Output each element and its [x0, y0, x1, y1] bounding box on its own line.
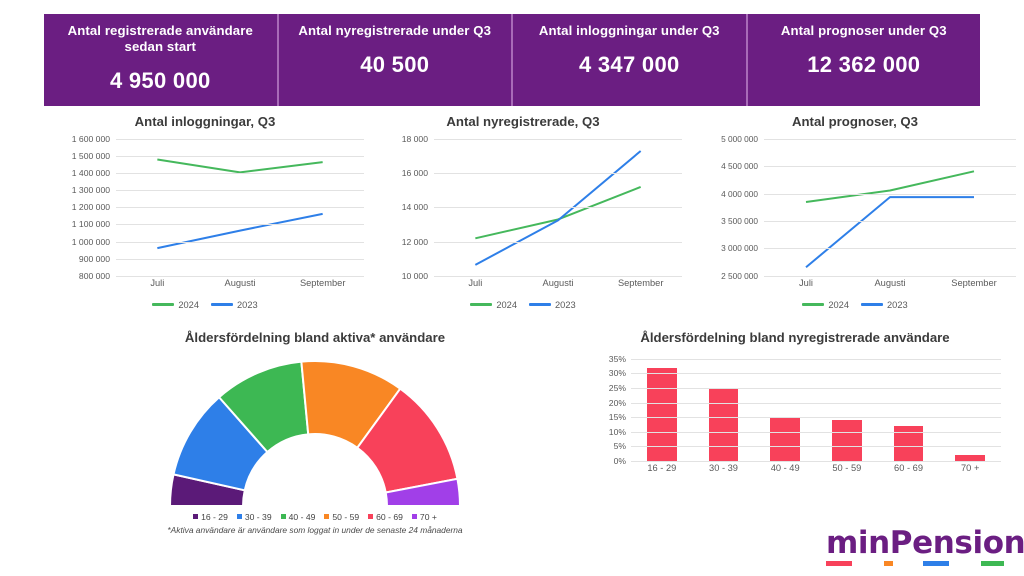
chart-new-users-age-distribution: Åldersfördelning bland nyregistrerade an…: [575, 330, 1015, 530]
chart-title: Åldersfördelning bland nyregistrerade an…: [575, 330, 1015, 346]
gridline: [764, 276, 1016, 277]
x-tick-label: September: [932, 278, 1016, 294]
x-tick-label: 60 - 69: [878, 463, 940, 479]
gridline: [116, 173, 364, 174]
gridline: [764, 139, 1016, 140]
gridline: [116, 207, 364, 208]
kpi-title: Antal inloggningar under Q3: [539, 23, 720, 39]
chart-logins: Antal inloggningar, Q3 800 000900 0001 0…: [40, 114, 370, 324]
kpi-title: Antal prognoser under Q3: [781, 23, 947, 39]
y-tick-label: 1 300 000: [72, 185, 110, 195]
gridline: [116, 139, 364, 140]
legend-swatch-2024: [802, 303, 824, 306]
y-tick-label: 4 500 000: [721, 161, 758, 171]
legend-swatch: [412, 514, 417, 519]
y-tick-label: 1 100 000: [72, 219, 110, 229]
legend-swatch: [281, 514, 286, 519]
donut-legend-item: 30 - 39: [237, 512, 272, 522]
chart-active-users-age-distribution: Åldersfördelning bland aktiva* användare…: [110, 330, 520, 545]
y-tick-label: 10 000: [402, 271, 428, 281]
gridline: [631, 359, 1001, 360]
y-tick-label: 1 600 000: [72, 134, 110, 144]
gridline: [631, 417, 1001, 418]
chart-legend: 2024 2023: [688, 300, 1022, 310]
donut-legend-item: 16 - 29: [193, 512, 228, 522]
legend-item-2023: 2023: [861, 300, 908, 310]
x-axis-labels: 16 - 2930 - 3940 - 4950 - 5960 - 6970 +: [631, 463, 1001, 479]
kpi-card-logins: Antal inloggningar under Q3 4 347 000: [511, 14, 746, 106]
logo-dash: [923, 561, 949, 566]
x-tick-label: Juli: [764, 278, 848, 294]
chart-title: Antal inloggningar, Q3: [40, 114, 370, 130]
donut-legend-item: 60 - 69: [368, 512, 403, 522]
x-tick-label: Augusti: [199, 278, 282, 294]
y-tick-label: 15%: [609, 412, 626, 422]
kpi-value: 4 347 000: [579, 52, 680, 78]
x-tick-label: September: [599, 278, 682, 294]
legend-swatch: [237, 514, 242, 519]
chart-title: Antal nyregistrerade, Q3: [358, 114, 688, 130]
line-series-2024: [157, 159, 322, 172]
x-tick-label: September: [281, 278, 364, 294]
y-tick-label: 16 000: [402, 168, 428, 178]
y-tick-label: 14 000: [402, 202, 428, 212]
legend-item-2024: 2024: [470, 300, 517, 310]
x-tick-label: Augusti: [848, 278, 932, 294]
half-donut-svg: [170, 358, 460, 508]
bar-30-39: [709, 388, 739, 461]
legend-swatch-2024: [152, 303, 174, 306]
logo-dash: [826, 561, 852, 566]
chart-forecasts: Antal prognoser, Q3 2 500 0003 000 0003 …: [688, 114, 1022, 324]
donut-legend-item: 50 - 59: [324, 512, 359, 522]
legend-label: 30 - 39: [245, 512, 272, 522]
donut-legend-item: 70 +: [412, 512, 437, 522]
legend-label: 2023: [237, 300, 258, 310]
x-tick-label: 16 - 29: [631, 463, 693, 479]
gridline: [631, 432, 1001, 433]
y-tick-label: 10%: [609, 427, 626, 437]
gridline: [116, 190, 364, 191]
kpi-title: Antal registrerade användare sedan start: [50, 23, 271, 55]
legend-swatch: [368, 514, 373, 519]
legend-swatch-2023: [529, 303, 551, 306]
legend-swatch-2023: [211, 303, 233, 306]
legend-swatch-2024: [470, 303, 492, 306]
legend-label: 50 - 59: [332, 512, 359, 522]
gridline: [764, 194, 1016, 195]
y-axis: 0%5%10%15%20%25%30%35%: [585, 359, 629, 461]
x-tick-label: 50 - 59: [816, 463, 878, 479]
y-tick-label: 900 000: [79, 254, 110, 264]
plot-area: [116, 139, 364, 276]
line-series-2023: [806, 197, 974, 267]
chart-title: Antal prognoser, Q3: [688, 114, 1022, 130]
plot-area: [434, 139, 682, 276]
kpi-band: Antal registrerade användare sedan start…: [44, 14, 980, 106]
y-tick-label: 12 000: [402, 237, 428, 247]
logo-text: minPension: [826, 528, 1012, 559]
legend-item-2024: 2024: [152, 300, 199, 310]
gridline: [116, 259, 364, 260]
kpi-title: Antal nyregistrerade under Q3: [298, 23, 491, 39]
chart-new-registrations: Antal nyregistrerade, Q3 10 00012 00014 …: [358, 114, 688, 324]
gridline: [631, 403, 1001, 404]
y-tick-label: 4 000 000: [721, 189, 758, 199]
gridline: [764, 221, 1016, 222]
legend-label: 2023: [555, 300, 576, 310]
kpi-card-forecasts: Antal prognoser under Q3 12 362 000: [746, 14, 981, 106]
gridline: [116, 156, 364, 157]
x-axis-labels: JuliAugustiSeptember: [764, 278, 1016, 294]
x-axis-labels: JuliAugustiSeptember: [434, 278, 682, 294]
y-axis: 2 500 0003 000 0003 500 0004 000 0004 50…: [688, 139, 762, 276]
legend-item-2024: 2024: [802, 300, 849, 310]
gridline: [631, 461, 1001, 462]
line-series-2023: [157, 214, 322, 248]
bar-40-49: [770, 417, 800, 461]
x-tick-label: Augusti: [517, 278, 600, 294]
donut-legend-item: 40 - 49: [281, 512, 316, 522]
y-tick-label: 18 000: [402, 134, 428, 144]
y-tick-label: 30%: [609, 368, 626, 378]
gridline: [434, 207, 682, 208]
plot-area: [764, 139, 1016, 276]
y-tick-label: 1 000 000: [72, 237, 110, 247]
y-tick-label: 1 200 000: [72, 202, 110, 212]
logo-dash: [981, 561, 1004, 566]
legend-swatch-2023: [861, 303, 883, 306]
legend-label: 2024: [828, 300, 849, 310]
y-tick-label: 3 500 000: [721, 216, 758, 226]
x-axis-labels: JuliAugustiSeptember: [116, 278, 364, 294]
y-tick-label: 2 500 000: [721, 271, 758, 281]
plot-area: [631, 359, 1001, 461]
y-tick-label: 20%: [609, 398, 626, 408]
legend-item-2023: 2023: [211, 300, 258, 310]
y-axis: 10 00012 00014 00016 00018 000: [358, 139, 432, 276]
kpi-card-new-registrations: Antal nyregistrerade under Q3 40 500: [277, 14, 512, 106]
gridline: [631, 388, 1001, 389]
gridline: [116, 276, 364, 277]
minpension-logo: minPension: [826, 528, 1012, 574]
chart-title: Åldersfördelning bland aktiva* användare: [110, 330, 520, 346]
y-tick-label: 0%: [614, 456, 626, 466]
y-tick-label: 5%: [614, 441, 626, 451]
legend-label: 2023: [887, 300, 908, 310]
legend-label: 60 - 69: [376, 512, 403, 522]
legend-swatch: [324, 514, 329, 519]
kpi-value: 4 950 000: [110, 68, 211, 94]
kpi-value: 12 362 000: [807, 52, 920, 78]
gridline: [764, 248, 1016, 249]
x-tick-label: 70 +: [939, 463, 1001, 479]
gridline: [116, 224, 364, 225]
gridline: [764, 166, 1016, 167]
x-tick-label: Juli: [116, 278, 199, 294]
line-series-svg: [764, 139, 1016, 276]
kpi-card-registered-users: Antal registrerade användare sedan start…: [44, 14, 277, 106]
y-tick-label: 3 000 000: [721, 243, 758, 253]
legend-label: 16 - 29: [201, 512, 228, 522]
legend-label: 70 +: [420, 512, 437, 522]
gridline: [434, 139, 682, 140]
x-tick-label: Juli: [434, 278, 517, 294]
donut-legend: 16 - 2930 - 3940 - 4950 - 5960 - 6970 +: [110, 512, 520, 522]
legend-swatch: [193, 514, 198, 519]
chart-legend: 2024 2023: [358, 300, 688, 310]
gridline: [631, 446, 1001, 447]
legend-item-2023: 2023: [529, 300, 576, 310]
half-donut-wrap: [170, 358, 460, 508]
logo-dashes: [826, 561, 1004, 568]
kpi-value: 40 500: [360, 52, 429, 78]
legend-label: 40 - 49: [289, 512, 316, 522]
gridline: [631, 373, 1001, 374]
line-series-2024: [475, 187, 640, 238]
x-tick-label: 30 - 39: [693, 463, 755, 479]
gridline: [116, 242, 364, 243]
gridline: [434, 242, 682, 243]
y-tick-label: 5 000 000: [721, 134, 758, 144]
logo-dash: [884, 561, 893, 566]
legend-label: 2024: [496, 300, 517, 310]
y-tick-label: 1 500 000: [72, 151, 110, 161]
chart-legend: 2024 2023: [40, 300, 370, 310]
y-tick-label: 1 400 000: [72, 168, 110, 178]
legend-label: 2024: [178, 300, 199, 310]
bar-50-59: [832, 420, 862, 461]
gridline: [434, 173, 682, 174]
chart-footnote: *Aktiva användare är användare som logga…: [110, 525, 520, 536]
y-tick-label: 25%: [609, 383, 626, 393]
gridline: [434, 276, 682, 277]
y-tick-label: 800 000: [79, 271, 110, 281]
x-tick-label: 40 - 49: [754, 463, 816, 479]
y-tick-label: 35%: [609, 354, 626, 364]
y-axis: 800 000900 0001 000 0001 100 0001 200 00…: [40, 139, 114, 276]
